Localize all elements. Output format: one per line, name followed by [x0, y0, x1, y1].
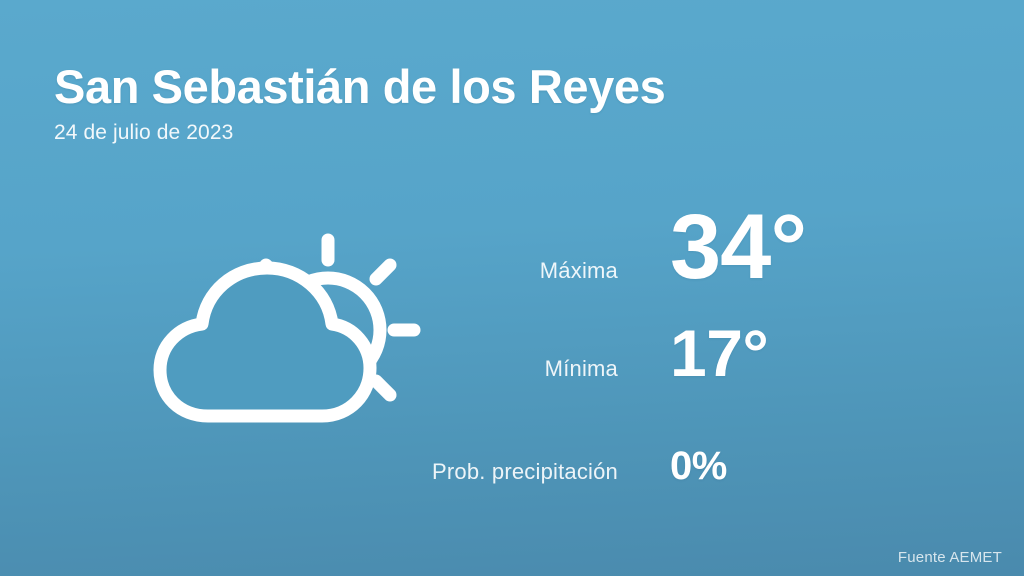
maxima-value: 34° [670, 212, 806, 284]
precipitacion-value: 0% [670, 450, 727, 482]
forecast-row-minima: Mínima 17° [380, 328, 980, 450]
forecast-row-maxima: Máxima 34° [380, 212, 980, 328]
forecast-rows: Máxima 34° Mínima 17° Prob. precipitació… [380, 212, 980, 520]
page-title: San Sebastián de los Reyes [54, 58, 754, 115]
minima-value: 17° [670, 328, 768, 379]
source-credit: Fuente AEMET [898, 549, 1002, 566]
cloud-shape [160, 268, 370, 416]
minima-label: Mínima [380, 356, 670, 382]
forecast-row-precipitacion: Prob. precipitación 0% [380, 450, 980, 520]
maxima-label: Máxima [380, 258, 670, 284]
card-header: San Sebastián de los Reyes 24 de julio d… [54, 58, 754, 145]
forecast-date: 24 de julio de 2023 [54, 121, 754, 145]
precipitacion-label: Prob. precipitación [380, 459, 670, 485]
